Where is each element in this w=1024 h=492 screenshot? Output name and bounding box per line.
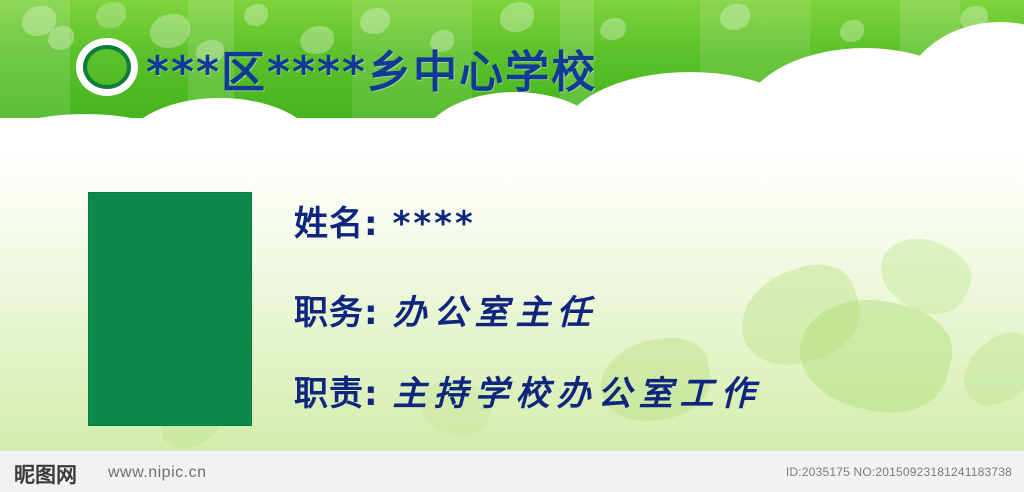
photo-box bbox=[88, 192, 252, 426]
school-title: ***区****乡中心学校 bbox=[146, 36, 597, 100]
info-block: 姓名: **** 职务: 办公室主任 职责: 主持学校办公室工作 bbox=[294, 196, 974, 439]
ring-logo-inner-icon bbox=[83, 45, 131, 89]
field-row-name: 姓名: **** bbox=[294, 196, 974, 245]
field-row-position: 职务: 办公室主任 bbox=[294, 285, 974, 334]
duty-label: 职责: bbox=[294, 366, 379, 415]
field-row-duty: 职责: 主持学校办公室工作 bbox=[294, 366, 974, 415]
watermark-logo: 昵图网 bbox=[14, 459, 77, 489]
position-value: 办公室主任 bbox=[393, 285, 598, 334]
watermark-url: www.nipic.cn bbox=[108, 464, 206, 482]
watermark-id: ID:2035175 NO:20150923181241183738 bbox=[786, 465, 1012, 479]
name-value: **** bbox=[393, 204, 476, 244]
position-label: 职务: bbox=[294, 285, 379, 334]
duty-value: 主持学校办公室工作 bbox=[393, 366, 762, 415]
name-label: 姓名: bbox=[294, 196, 379, 245]
watermark-footer: 昵图网 www.nipic.cn ID:2035175 NO:201509231… bbox=[0, 450, 1024, 492]
id-card: ***区****乡中心学校 姓名: **** 职务: 办公室主任 职责: 主持学… bbox=[0, 0, 1024, 492]
